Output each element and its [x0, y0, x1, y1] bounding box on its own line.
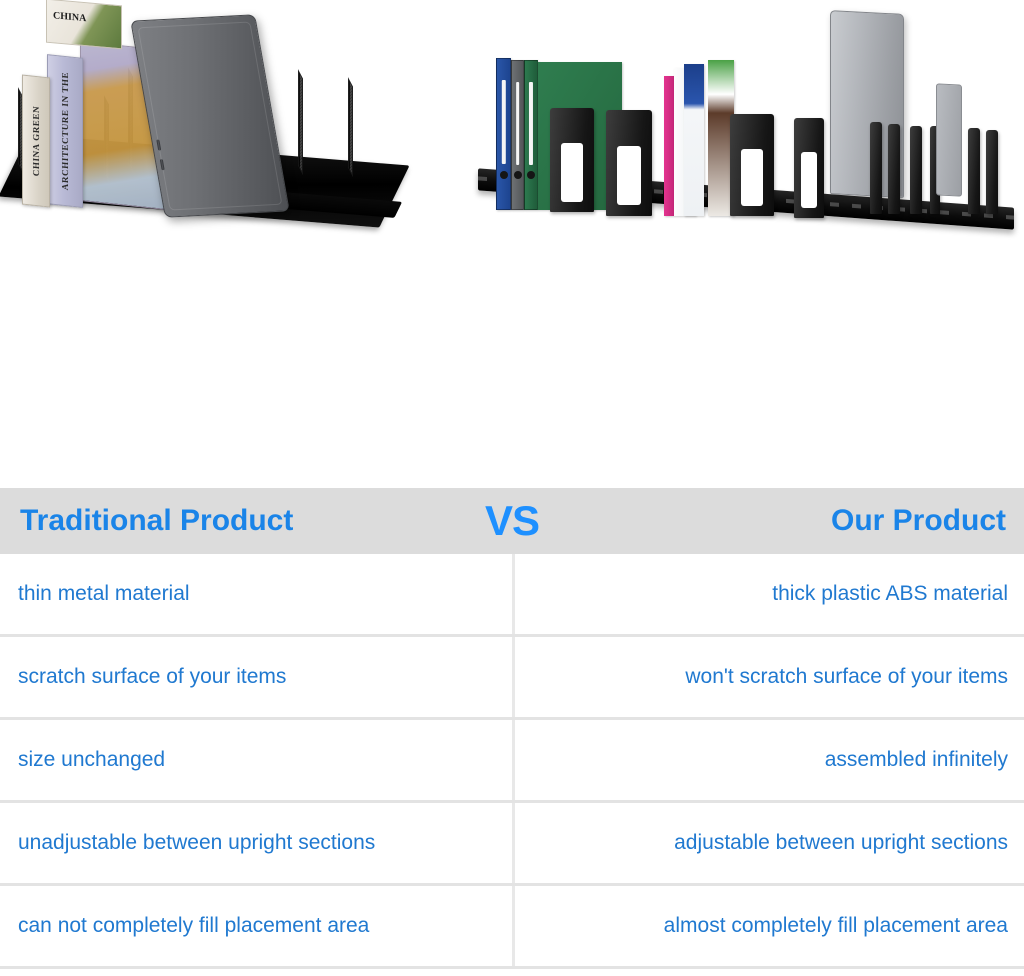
- table-row: unadjustable between upright sections ad…: [0, 803, 1024, 886]
- traditional-feature-cell: size unchanged: [0, 720, 515, 800]
- product-comparison-infographic: ARCHITECTURE IN THE CHINA GREEN CHINA: [0, 0, 1024, 976]
- table-row: thin metal material thick plastic ABS ma…: [0, 554, 1024, 637]
- book-spine-label: ARCHITECTURE IN THE: [60, 71, 70, 190]
- our-feature-cell: assembled infinitely: [515, 720, 1024, 800]
- abs-divider: [550, 108, 594, 212]
- laptop-port-icon: [160, 159, 165, 170]
- our-feature-cell: thick plastic ABS material: [515, 554, 1024, 634]
- our-feature-cell: almost completely fill placement area: [515, 886, 1024, 966]
- binder-blue: [496, 58, 511, 210]
- comparison-table: Traditional Product VS Our Product thin …: [0, 488, 1024, 970]
- our-product-photo: [470, 0, 1024, 258]
- table-row: can not completely fill placement area a…: [0, 886, 1024, 969]
- book-china-green: CHINA GREEN: [22, 75, 50, 208]
- abs-divider: [606, 110, 652, 216]
- abs-divider: [910, 126, 922, 214]
- binder-hole-icon: [514, 171, 522, 179]
- our-feature-cell: adjustable between upright sections: [515, 803, 1024, 883]
- magazine-blue: [684, 64, 704, 216]
- table-row: size unchanged assembled infinitely: [0, 720, 1024, 803]
- comparison-table-body: thin metal material thick plastic ABS ma…: [0, 554, 1024, 969]
- abs-divider: [968, 128, 980, 214]
- abs-divider: [870, 122, 882, 214]
- binder-hole-icon: [527, 171, 535, 179]
- our-feature-cell: won't scratch surface of your items: [515, 637, 1024, 717]
- book-architecture: ARCHITECTURE IN THE: [47, 54, 83, 208]
- laptop-port-icon: [156, 140, 161, 151]
- abs-divider: [794, 118, 824, 218]
- traditional-feature-cell: scratch surface of your items: [0, 637, 515, 717]
- traditional-feature-cell: can not completely fill placement area: [0, 886, 515, 966]
- binder-gray: [511, 60, 524, 210]
- abs-divider: [986, 130, 998, 214]
- mesh-divider: [348, 77, 353, 176]
- mesh-divider: [298, 69, 303, 174]
- abs-divider: [888, 124, 900, 214]
- comparison-table-header: Traditional Product VS Our Product: [0, 488, 1024, 554]
- table-row: scratch surface of your items won't scra…: [0, 637, 1024, 720]
- magazine-pink: [664, 76, 674, 216]
- book-cover-china: CHINA: [46, 0, 122, 49]
- product-photos-band: ARCHITECTURE IN THE CHINA GREEN CHINA: [0, 0, 1024, 268]
- traditional-feature-cell: thin metal material: [0, 554, 515, 634]
- header-our-product: Our Product: [515, 504, 1024, 538]
- abs-divider: [730, 114, 774, 216]
- binder-hole-icon: [500, 171, 508, 179]
- header-traditional-product: Traditional Product: [0, 504, 515, 538]
- book-spine-label: CHINA GREEN: [31, 105, 41, 176]
- feature-callouts-band: Scratch Surface 0.2 in: [0, 268, 1024, 480]
- traditional-feature-cell: unadjustable between upright sections: [0, 803, 515, 883]
- binder-green: [524, 60, 538, 210]
- traditional-product-photo: ARCHITECTURE IN THE CHINA GREEN CHINA: [0, 0, 470, 250]
- tablet-device: [936, 83, 962, 196]
